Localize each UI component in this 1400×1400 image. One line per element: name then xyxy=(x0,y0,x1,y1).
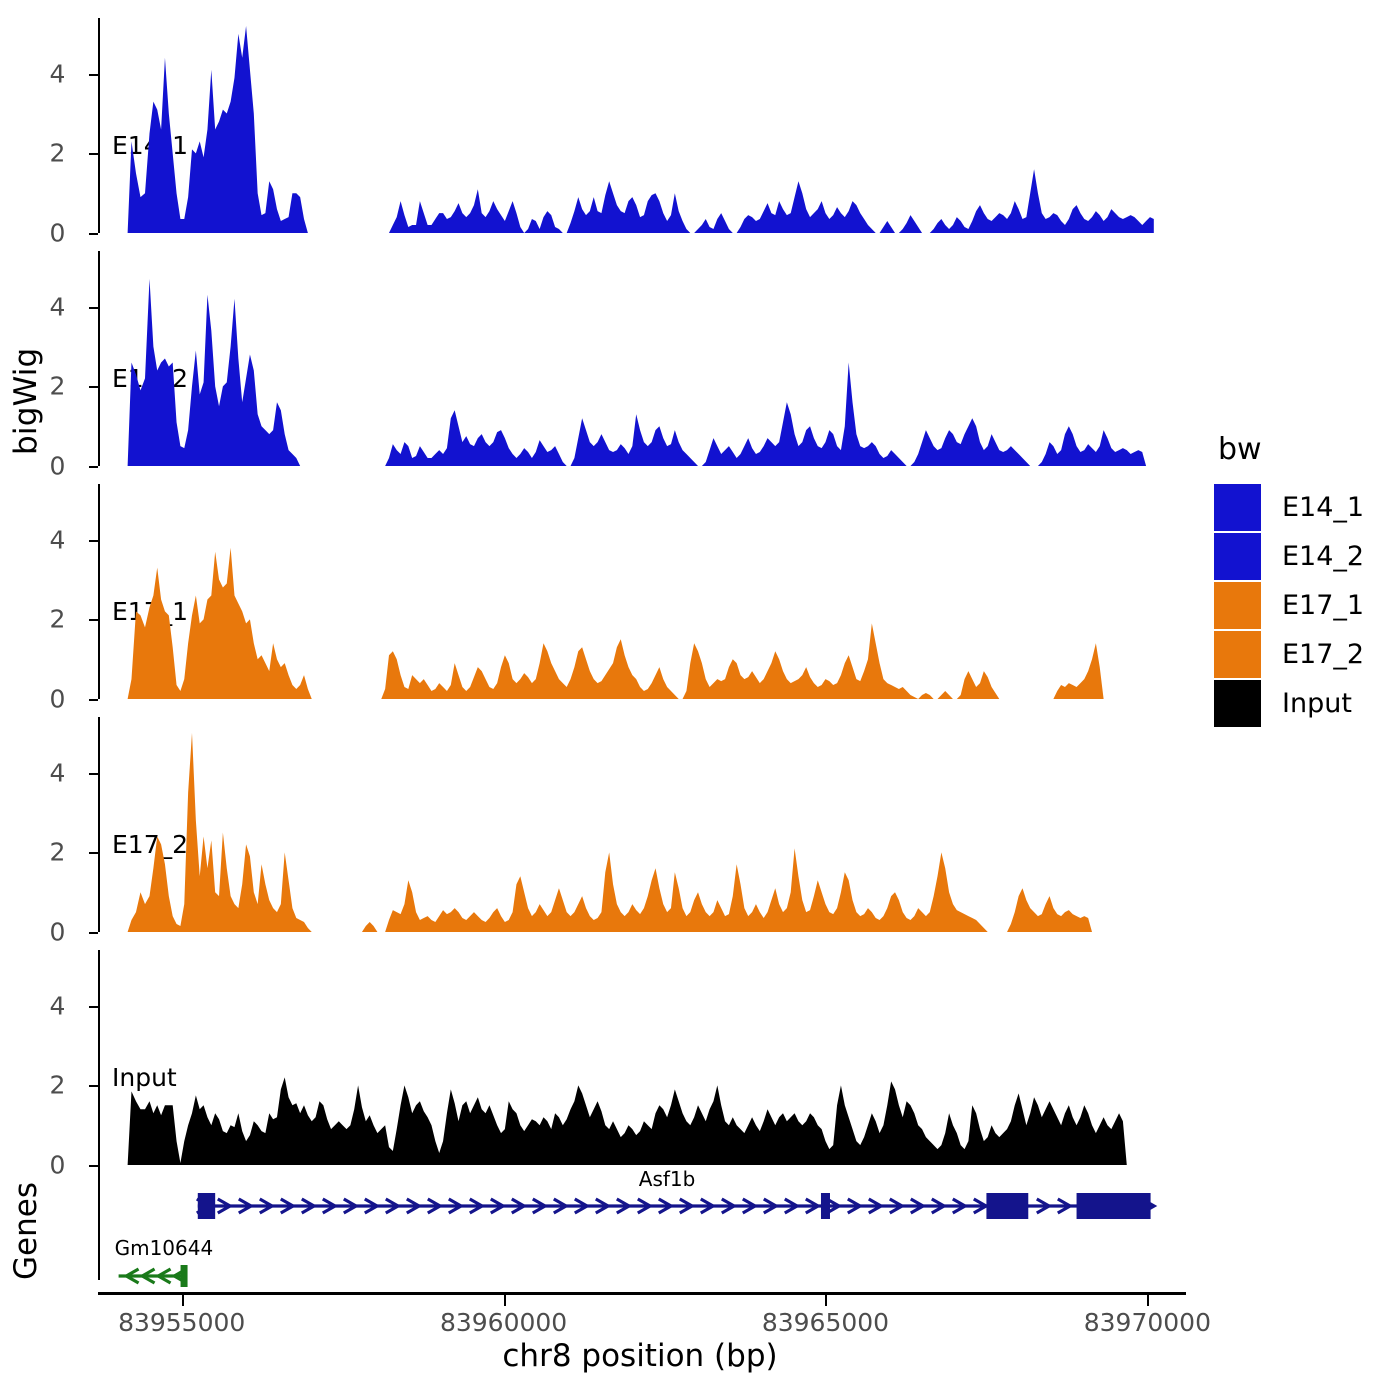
y-tick-label: 4 xyxy=(49,292,65,321)
track-panel-e17_2: 024E17_2 xyxy=(98,717,1186,932)
x-axis-line xyxy=(98,1292,1186,1295)
y-tick xyxy=(89,852,98,854)
legend-label: E17_2 xyxy=(1282,639,1364,670)
y-tick-label: 2 xyxy=(49,838,65,867)
plot-root: bigWig Genes chr8 position (bp) 024E14_1… xyxy=(0,0,1400,1400)
x-tick-label: 83955000 xyxy=(118,1308,245,1337)
track-area-e17_2 xyxy=(98,717,1186,932)
legend-item-e14_1[interactable]: E14_1 xyxy=(1214,483,1364,532)
y-tick-label: 4 xyxy=(49,59,65,88)
legend-label: E14_2 xyxy=(1282,541,1364,572)
y-tick xyxy=(89,307,98,309)
y-tick xyxy=(89,1006,98,1008)
legend-swatch xyxy=(1214,484,1261,531)
y-tick xyxy=(89,233,98,235)
y-tick xyxy=(89,1165,98,1167)
genes-panel: Asf1b Gm10644 xyxy=(98,1160,1186,1300)
x-tick xyxy=(1147,1295,1149,1306)
y-tick-label: 0 xyxy=(49,452,65,481)
legend-item-e14_2[interactable]: E14_2 xyxy=(1214,532,1364,581)
y-tick xyxy=(89,540,98,542)
legend-swatch xyxy=(1214,582,1261,629)
track-area-e17_1 xyxy=(98,484,1186,699)
x-tick xyxy=(825,1295,827,1306)
y-tick xyxy=(89,699,98,701)
y-tick-label: 4 xyxy=(49,525,65,554)
genes-axis-line xyxy=(98,1160,100,1280)
y-tick-label: 2 xyxy=(49,605,65,634)
x-tick xyxy=(504,1295,506,1306)
legend-swatch xyxy=(1214,533,1261,580)
y-tick-label: 2 xyxy=(49,1071,65,1100)
legend-item-e17_1[interactable]: E17_1 xyxy=(1214,581,1364,630)
y-axis-title-genes: Genes xyxy=(8,1182,44,1280)
legend-label: E14_1 xyxy=(1282,492,1364,523)
y-tick-label: 0 xyxy=(49,685,65,714)
track-area-e14_1 xyxy=(98,18,1186,233)
y-axis-title-bigwig: bigWig xyxy=(8,348,44,455)
x-tick-label: 83960000 xyxy=(440,1308,567,1337)
legend-item-input[interactable]: Input xyxy=(1214,679,1364,728)
y-tick xyxy=(89,1085,98,1087)
legend-swatch xyxy=(1214,680,1261,727)
legend-items: E14_1E14_2E17_1E17_2Input xyxy=(1214,483,1364,728)
legend-item-e17_2[interactable]: E17_2 xyxy=(1214,630,1364,679)
y-tick xyxy=(89,74,98,76)
gene-label-forward: Asf1b xyxy=(639,1167,696,1191)
track-panel-input: 024Input xyxy=(98,950,1186,1165)
track-panel-e17_1: 024E17_1 xyxy=(98,484,1186,699)
y-tick xyxy=(89,386,98,388)
x-tick xyxy=(182,1295,184,1306)
legend-swatch xyxy=(1214,631,1261,678)
x-tick-label: 83970000 xyxy=(1084,1308,1211,1337)
x-tick-label: 83965000 xyxy=(762,1308,889,1337)
y-tick-label: 0 xyxy=(49,219,65,248)
track-panel-e14_1: 024E14_1 xyxy=(98,18,1186,233)
legend-label: E17_1 xyxy=(1282,590,1364,621)
legend-title: bw xyxy=(1218,432,1364,467)
y-tick-label: 0 xyxy=(49,918,65,947)
track-panel-e14_2: 024E14_2 xyxy=(98,251,1186,466)
y-tick-label: 2 xyxy=(49,139,65,168)
track-area-e14_2 xyxy=(98,251,1186,466)
y-tick-label: 0 xyxy=(49,1151,65,1180)
y-tick-label: 2 xyxy=(49,372,65,401)
legend-label: Input xyxy=(1282,688,1352,719)
y-tick xyxy=(89,619,98,621)
y-tick xyxy=(89,466,98,468)
x-axis-title: chr8 position (bp) xyxy=(95,1338,1185,1374)
track-area-input xyxy=(98,950,1186,1165)
y-tick-label: 4 xyxy=(49,991,65,1020)
legend: bw E14_1E14_2E17_1E17_2Input xyxy=(1214,432,1364,728)
y-tick xyxy=(89,153,98,155)
y-tick xyxy=(89,773,98,775)
gene-label-reverse: Gm10644 xyxy=(115,1236,214,1260)
y-tick-label: 4 xyxy=(49,758,65,787)
y-tick xyxy=(89,932,98,934)
